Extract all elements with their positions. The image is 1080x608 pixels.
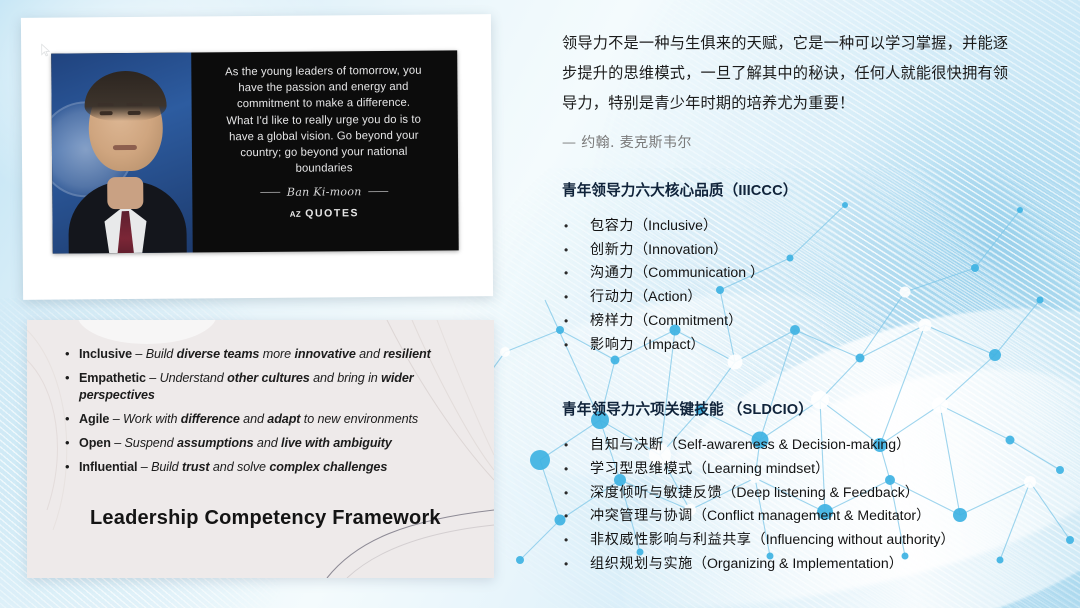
skill-cn: 自知与决断 <box>590 433 663 456</box>
list-item: • 行动力 （Action） <box>562 285 1062 309</box>
skill-en: （Self-awareness & Decision-making） <box>663 433 910 456</box>
skill-cn: 非权威性影响与利益共享 <box>590 528 752 551</box>
quality-en: （Impact） <box>634 333 704 356</box>
quality-cn: 沟通力 <box>590 261 634 284</box>
bullet-icon: • <box>562 262 590 285</box>
quote-text-area: As the young leaders of tomorrow, you ha… <box>191 50 459 252</box>
list-item: • Open – Suspend assumptions and live wi… <box>65 435 472 452</box>
portrait-ban-ki-moon <box>51 53 193 254</box>
azquotes-word: QUOTES <box>305 208 359 220</box>
bullet-icon: • <box>65 459 79 475</box>
section-heading-skills: 青年领导力六项关键技能 （SLDCIO） <box>562 398 1062 419</box>
eyebrow-right <box>127 103 143 106</box>
competency-dash: – <box>111 436 125 450</box>
competency-desc: Build diverse teams more innovative and … <box>146 347 431 361</box>
bullet-icon: • <box>562 553 590 576</box>
skill-en: （Deep listening & Feedback） <box>722 481 919 504</box>
skill-en: （Influencing without authority） <box>752 528 955 551</box>
list-item: • 榜样力 （Commitment） <box>562 309 1062 333</box>
skill-cn: 组织规划与实施 <box>590 552 693 575</box>
skill-en: （Conflict management & Meditator） <box>693 504 930 527</box>
list-item: • Influential – Build trust and solve co… <box>65 459 472 476</box>
section-heading-qualities: 青年领导力六大核心品质（IIICCC） <box>562 179 1062 200</box>
bullet-icon: • <box>562 215 590 238</box>
hair-shape <box>84 71 166 122</box>
skill-en: （Learning mindset） <box>693 457 829 480</box>
competency-dash: – <box>109 412 123 426</box>
bullet-icon: • <box>65 435 79 451</box>
right-content-column: 领导力不是一种与生俱来的天赋，它是一种可以学习掌握，并能逐步提升的思维模式，一旦… <box>562 28 1062 575</box>
section-spacer <box>562 356 1062 398</box>
mouse-pointer-icon <box>41 44 50 57</box>
signature-dash-left <box>260 192 280 193</box>
bullet-icon: • <box>562 334 590 357</box>
bullet-icon: • <box>562 458 590 481</box>
quality-cn: 包容力 <box>590 214 634 237</box>
list-item: • 学习型思维模式 （Learning mindset） <box>562 457 1062 481</box>
skills-list: • 自知与决断 （Self-awareness & Decision-makin… <box>562 433 1062 575</box>
skill-cn: 学习型思维模式 <box>590 457 693 480</box>
list-item: • 非权威性影响与利益共享 （Influencing without autho… <box>562 528 1062 552</box>
competency-term: Empathetic <box>79 371 146 385</box>
lead-quote-attribution: — 约翰. 麦克斯韦尔 <box>562 132 1062 152</box>
quality-cn: 影响力 <box>590 333 634 356</box>
signature-dash-right <box>369 191 389 192</box>
bullet-icon: • <box>562 239 590 262</box>
azquotes-watermark: AZ QUOTES <box>202 207 446 221</box>
competency-dash: – <box>137 460 151 474</box>
quote-attribution: Ban Ki-moon <box>287 186 362 200</box>
competency-list: • Inclusive – Build diverse teams more i… <box>65 346 472 483</box>
competency-desc: Build trust and solve complex challenges <box>151 460 387 474</box>
eye-right <box>128 111 141 115</box>
skill-en: （Organizing & Implementation） <box>693 552 903 575</box>
quote-image: As the young leaders of tomorrow, you ha… <box>51 50 459 253</box>
list-item: • 包容力 （Inclusive） <box>562 214 1062 238</box>
bullet-icon: • <box>562 505 590 528</box>
eye-left <box>100 111 113 115</box>
quality-cn: 榜样力 <box>590 309 634 332</box>
bullet-icon: • <box>65 411 79 427</box>
list-item: • 组织规划与实施 （Organizing & Implementation） <box>562 552 1062 576</box>
list-item: • 自知与决断 （Self-awareness & Decision-makin… <box>562 433 1062 457</box>
bullet-icon: • <box>562 286 590 309</box>
quote-image-card: As the young leaders of tomorrow, you ha… <box>21 14 493 300</box>
neck-shape <box>107 177 143 209</box>
competency-desc: Suspend assumptions and live with ambigu… <box>125 436 392 450</box>
bullet-icon: • <box>562 434 590 457</box>
competency-desc: Work with difference and adapt to new en… <box>123 412 418 426</box>
azquotes-mark: AZ <box>290 210 302 219</box>
list-item: • Inclusive – Build diverse teams more i… <box>65 346 472 363</box>
framework-title: Leadership Competency Framework <box>90 507 441 530</box>
list-item: • 冲突管理与协调 （Conflict management & Meditat… <box>562 504 1062 528</box>
bullet-icon: • <box>65 346 79 362</box>
quote-signature-row: Ban Ki-moon <box>202 185 446 200</box>
list-item: • 影响力 （Impact） <box>562 333 1062 357</box>
bullet-icon: • <box>562 529 590 552</box>
competency-term: Open <box>79 436 111 450</box>
quality-en: （Innovation） <box>634 238 727 261</box>
competency-dash: – <box>146 371 160 385</box>
lead-quote-text: 领导力不是一种与生俱来的天赋，它是一种可以学习掌握，并能逐步提升的思维模式，一旦… <box>562 28 1017 118</box>
quality-cn: 行动力 <box>590 285 634 308</box>
quality-cn: 创新力 <box>590 238 634 261</box>
competency-term: Inclusive <box>79 347 132 361</box>
slide-canvas: As the young leaders of tomorrow, you ha… <box>0 0 1080 608</box>
bullet-icon: • <box>65 370 79 386</box>
bullet-icon: • <box>562 310 590 333</box>
quality-en: （Inclusive） <box>634 214 717 237</box>
list-item: • Empathetic – Understand other cultures… <box>65 370 472 403</box>
quality-en: （Communication ） <box>634 261 764 284</box>
quality-en: （Commitment） <box>634 309 742 332</box>
competency-dash: – <box>132 347 146 361</box>
competency-term: Influential <box>79 460 137 474</box>
bullet-icon: • <box>562 482 590 505</box>
list-item: • 沟通力 （Communication ） <box>562 261 1062 285</box>
list-item: • 深度倾听与敏捷反馈 （Deep listening & Feedback） <box>562 481 1062 505</box>
eyebrow-left <box>98 103 114 106</box>
quote-text: As the young leaders of tomorrow, you ha… <box>201 63 446 178</box>
skill-cn: 冲突管理与协调 <box>590 504 693 527</box>
mouth-shape <box>113 145 137 150</box>
quality-en: （Action） <box>634 285 701 308</box>
qualities-list: • 包容力 （Inclusive） • 创新力 （Innovation） • 沟… <box>562 214 1062 356</box>
list-item: • 创新力 （Innovation） <box>562 238 1062 262</box>
competency-term: Agile <box>79 412 109 426</box>
leadership-competency-card: • Inclusive – Build diverse teams more i… <box>27 320 494 578</box>
skill-cn: 深度倾听与敏捷反馈 <box>590 481 722 504</box>
list-item: • Agile – Work with difference and adapt… <box>65 411 472 428</box>
